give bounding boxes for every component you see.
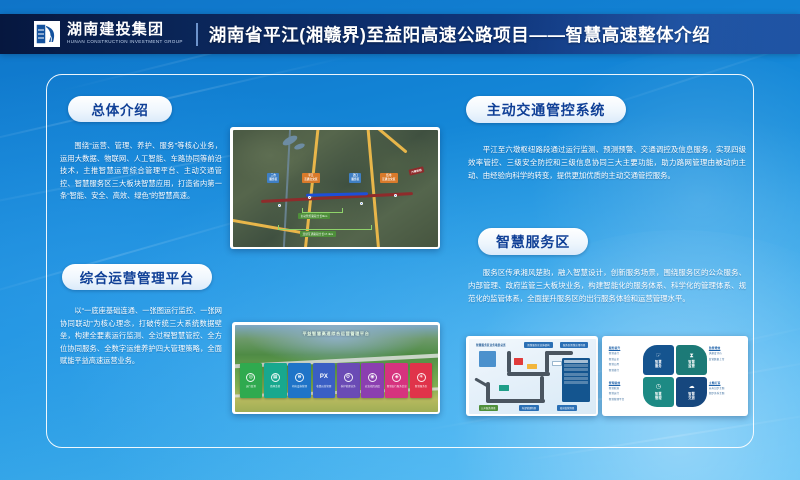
- scene-vehicle: [514, 358, 523, 365]
- header-bar: 湖南建投集团 HUNAN CONSTRUCTION INVESTMENT GRO…: [0, 14, 800, 54]
- quadrant-smart-management[interactable]: ◷ 智慧管理: [643, 377, 675, 407]
- column-item: 智慧公用: [609, 362, 641, 366]
- scene-footer-chip: 内部管理场景: [519, 405, 538, 411]
- section-title-service: 智慧服务区: [478, 228, 588, 255]
- column-item: 智慧旅行: [609, 368, 641, 372]
- logo-text-en: HUNAN CONSTRUCTION INVESTMENT GROUP: [67, 38, 183, 46]
- scene-road: [507, 372, 550, 376]
- scene-footer-chip: 公众服务场景: [479, 405, 498, 411]
- column-item: 智慧能源: [609, 386, 641, 390]
- wrench-icon: ⚙: [344, 373, 353, 382]
- module-tile[interactable]: ◎ 运行监测: [240, 363, 263, 398]
- service-area-scene-diagram: 智慧服务区业务场景总览 智慧服务区总体架构 服务区智慧应用场景 公众服务场景 内…: [466, 336, 598, 416]
- column-item: 智慧运行: [609, 391, 641, 395]
- scene-chip: 智慧服务区总体架构: [524, 342, 552, 348]
- poster-root: 湖南建投集团 HUNAN CONSTRUCTION INVESTMENT GRO…: [0, 0, 800, 480]
- quadrant-label: 智慧交旅: [688, 392, 695, 400]
- quadrant-label: 智慧服务: [655, 360, 662, 368]
- section-body-overview: 围绕“运营、管理、养护、服务”等核心业务，运用大数据、物联网、人工智能、车路协同…: [60, 140, 222, 203]
- platform-module-tiles: ◎ 运行监测 ▦ 路网监管 ⊜ 机电设施管理 PX 收费运营管理 ⚙ 养护管: [240, 363, 433, 398]
- column-item: 监管数据上传: [709, 357, 741, 361]
- scene-vehicle: [527, 364, 537, 369]
- module-tile-label: 运行监测: [246, 384, 256, 388]
- map-node: [278, 204, 281, 207]
- device-icon: ⊜: [295, 373, 304, 382]
- map-tag: 伍市互通立交区: [380, 173, 397, 183]
- clock-icon: ◷: [656, 384, 661, 390]
- module-tile-label: 智慧出行服务信息: [387, 384, 407, 388]
- module-tile[interactable]: ◉ 应急指挥调度: [361, 363, 384, 398]
- map-length-label: 主动管控路段全长9km: [298, 213, 330, 219]
- column-heading: 服务提升: [609, 346, 641, 350]
- section-body-service: 服务区传承湘风楚韵，融入智慧设计，创新服务场景，围绕服务区的公众服务、内部管理、…: [468, 266, 746, 306]
- scene-road: [545, 351, 573, 355]
- module-tile[interactable]: ⊜ 机电设施管理: [288, 363, 311, 398]
- scene-diagram-title: 智慧服务区业务场景总览: [476, 343, 506, 347]
- quadrant-smart-supervision[interactable]: ⧗ 智慧监管: [676, 345, 708, 375]
- gauge-icon: ◎: [246, 373, 255, 382]
- module-tile[interactable]: PX 收费运营管理: [313, 363, 336, 398]
- toll-icon: PX: [319, 373, 328, 382]
- scene-road: [540, 376, 544, 402]
- platform-aerial-photo: 平益智慧高速综合运营管理平台 ◎ 运行监测 ▦ 路网监管 ⊜ 机电设施管理 PX…: [232, 322, 440, 414]
- map-brace: [278, 225, 372, 230]
- pin-icon: ◉: [368, 373, 377, 382]
- module-tile[interactable]: ◈ 智慧出行服务信息: [385, 363, 408, 398]
- section-title-overview: 总体介绍: [68, 96, 172, 122]
- quadrant-column-top-left: 服务提升 智慧出行 智慧安全 智慧公用 智慧旅行: [609, 346, 641, 372]
- quadrant-smart-travel[interactable]: ☁ 智慧交旅: [676, 377, 708, 407]
- column-item: 满意度评价: [709, 351, 741, 355]
- column-heading: 主题打造: [709, 381, 741, 385]
- column-heading: 监管增效: [709, 346, 741, 350]
- brand-logo: 湖南建投集团 HUNAN CONSTRUCTION INVESTMENT GRO…: [34, 21, 183, 47]
- info-icon: ◈: [392, 373, 401, 382]
- map-tag: 三市服务区: [267, 173, 279, 183]
- cloud-icon: ☁: [689, 384, 695, 390]
- column-item: 智慧出行: [609, 351, 641, 355]
- scene-road: [486, 399, 544, 403]
- module-tile-label: 应急指挥调度: [365, 384, 380, 388]
- logo-mark-icon: [34, 21, 60, 47]
- map-tag: 六墩枢纽: [408, 166, 424, 176]
- column-item: 湘罗美养主题: [709, 391, 741, 395]
- star-icon: ✳: [417, 373, 426, 382]
- column-item: 智慧管理平台: [609, 397, 641, 401]
- section-body-platform: 以“一底座基础连通、一张图运行监控、一张网协同联动”为核心理念，打破传统三大系统…: [60, 305, 222, 368]
- header-divider: [196, 23, 198, 46]
- logo-text-cn: 湖南建投集团: [67, 22, 183, 38]
- scene-vehicle: [552, 361, 562, 366]
- map-tag: 平江互通立交区: [302, 173, 319, 183]
- scene-road: [507, 351, 511, 374]
- module-tile[interactable]: ▦ 路网监管: [264, 363, 287, 398]
- light-streak: [520, 408, 800, 461]
- section-body-traffic: 平江至六墩枢纽路段通过运行监测、预测预警、交通调控及信息服务，实现四级效率管控、…: [468, 143, 746, 183]
- page-title: 湖南省平江(湘赣界)至益阳高速公路项目——智慧高速整体介绍: [209, 22, 711, 47]
- scene-data-panel: [562, 358, 590, 402]
- scene-footer-chip: 政府监管场景: [557, 405, 576, 411]
- column-item: 智慧安全: [609, 357, 641, 361]
- grid-icon: ▦: [271, 373, 280, 382]
- quadrant-column-top-right: 监管增效 满意度评价 监管数据上传: [709, 346, 741, 361]
- quadrant-smart-service[interactable]: ☞ 智慧服务: [643, 345, 675, 375]
- map-length-label: 连续互通路段全长17.4km: [300, 231, 336, 237]
- service-area-quadrant-diagram: 服务提升 智慧出行 智慧安全 智慧公用 智慧旅行 管理提效 智慧能源 智慧运行 …: [602, 336, 748, 416]
- module-tile-label: 路网监管: [270, 384, 280, 388]
- route-satellite-map: 三市服务区 平江互通立交区 浯口服务区 伍市互通立交区 六墩枢纽 主动管控路段全…: [230, 127, 440, 249]
- module-tile-label: 收费运营管理: [316, 384, 331, 388]
- section-title-traffic: 主动交通管控系统: [466, 96, 626, 123]
- module-tile-label: 养护管理业务: [341, 384, 356, 388]
- scene-building: [479, 351, 497, 368]
- scene-chip: 服务区智慧应用场景: [560, 342, 588, 348]
- module-tile[interactable]: ✳ 智慧服务区: [410, 363, 433, 398]
- quadrant-column-bottom-right: 主题打造 长寿汨罗主题 湘罗美养主题: [709, 381, 741, 396]
- scene-vehicle: [499, 385, 509, 391]
- monitor-icon: ⧗: [689, 353, 693, 359]
- column-heading: 管理提效: [609, 381, 641, 385]
- aerial-photo-title: 平益智慧高速综合运营管理平台: [235, 331, 438, 337]
- map-lake: [293, 142, 305, 150]
- module-tile-label: 机电设施管理: [292, 384, 307, 388]
- quadrant-grid: ☞ 智慧服务 ⧗ 智慧监管 ◷ 智慧管理 ☁ 智慧交旅: [643, 345, 708, 407]
- map-node: [360, 202, 363, 205]
- quadrant-label: 智慧管理: [655, 392, 662, 400]
- quadrant-column-bottom-left: 管理提效 智慧能源 智慧运行 智慧管理平台: [609, 381, 641, 401]
- section-title-platform: 综合运营管理平台: [62, 264, 212, 290]
- service-icon: ☞: [656, 353, 661, 359]
- column-item: 长寿汨罗主题: [709, 386, 741, 390]
- module-tile-label: 智慧服务区: [415, 384, 427, 388]
- quadrant-label: 智慧监管: [688, 360, 695, 368]
- map-tag: 浯口服务区: [349, 173, 361, 183]
- module-tile[interactable]: ⚙ 养护管理业务: [337, 363, 360, 398]
